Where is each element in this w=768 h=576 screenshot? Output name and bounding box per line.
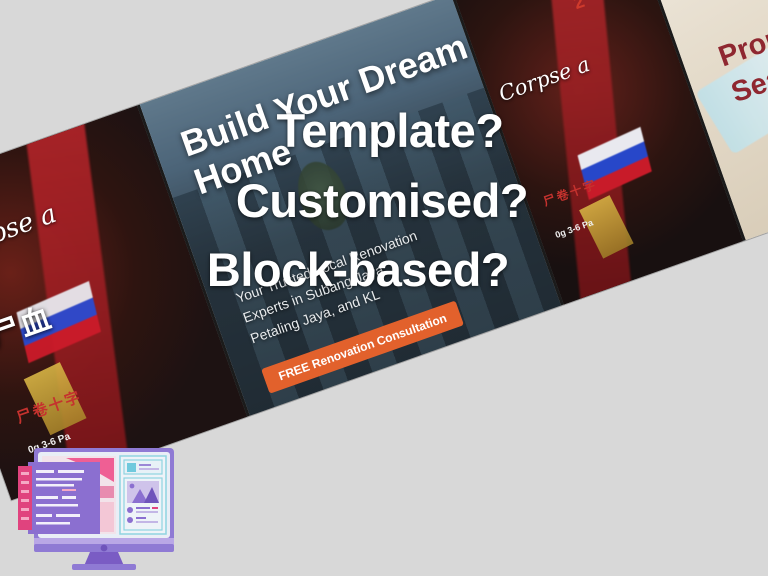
monitor-icon	[6, 442, 196, 570]
website-screenshot-collage: Corpse a 尸血 尸卷十字 0g 3-6 Pa Build Your Dr…	[0, 0, 768, 500]
screenshot-canvas: Corpse a 尸血 尸卷十字 0g 3-6 Pa Build Your Dr…	[0, 0, 768, 576]
website-builder-illustration	[6, 442, 196, 570]
property-heading-line1: Property	[715, 3, 768, 73]
